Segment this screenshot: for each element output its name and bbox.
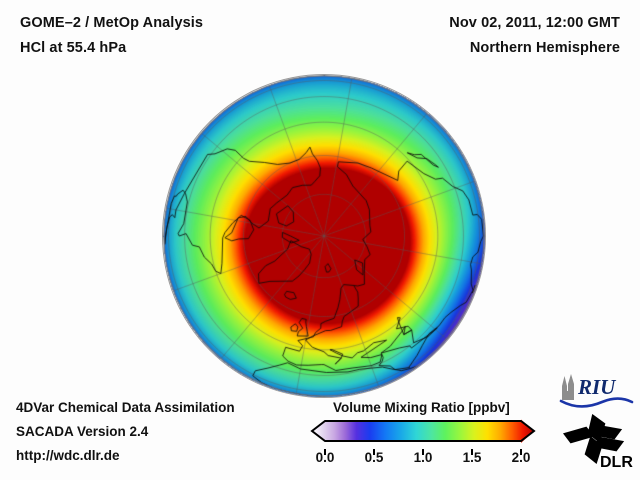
colorbar-tick-label: 2.0 <box>512 450 531 465</box>
colorbar-tick-labels: 0.00.51.01.52.0 <box>300 450 546 470</box>
colorbar-title: Volume Mixing Ratio [ppbv] <box>333 400 510 415</box>
figure-canvas: GOME–2 / MetOp Analysis HCl at 55.4 hPa … <box>0 0 640 480</box>
riu-logo: RIU <box>558 374 634 408</box>
datetime-label: Nov 02, 2011, 12:00 GMT <box>449 15 620 31</box>
method-label: 4DVar Chemical Data Assimilation <box>16 400 235 415</box>
hemisphere-label: Northern Hemisphere <box>470 40 620 56</box>
dlr-logo: DLR <box>562 414 634 472</box>
colorbar <box>310 418 536 444</box>
cathedral-towers-icon <box>562 374 574 400</box>
colorbar-gradient <box>312 420 534 444</box>
globe-map <box>163 75 485 397</box>
orthographic-projection <box>163 75 485 397</box>
riu-logo-svg: RIU <box>558 374 634 408</box>
dlr-logo-svg: DLR <box>562 414 634 472</box>
dlr-wordmark: DLR <box>600 454 633 471</box>
instrument-title: GOME–2 / MetOp Analysis <box>20 15 203 31</box>
colorbar-tick-label: 0.0 <box>316 450 335 465</box>
riu-wordmark: RIU <box>577 375 617 399</box>
hcl-field-raster <box>163 75 485 397</box>
version-label: SACADA Version 2.4 <box>16 424 148 439</box>
colorbar-tick-label: 1.0 <box>414 450 433 465</box>
colorbar-tick-label: 0.5 <box>365 450 384 465</box>
colorbar-tick-label: 1.5 <box>463 450 482 465</box>
colorbar-svg <box>310 418 536 444</box>
species-subtitle: HCl at 55.4 hPa <box>20 40 126 56</box>
wdc-url-label: http://wdc.dlr.de <box>16 448 120 463</box>
